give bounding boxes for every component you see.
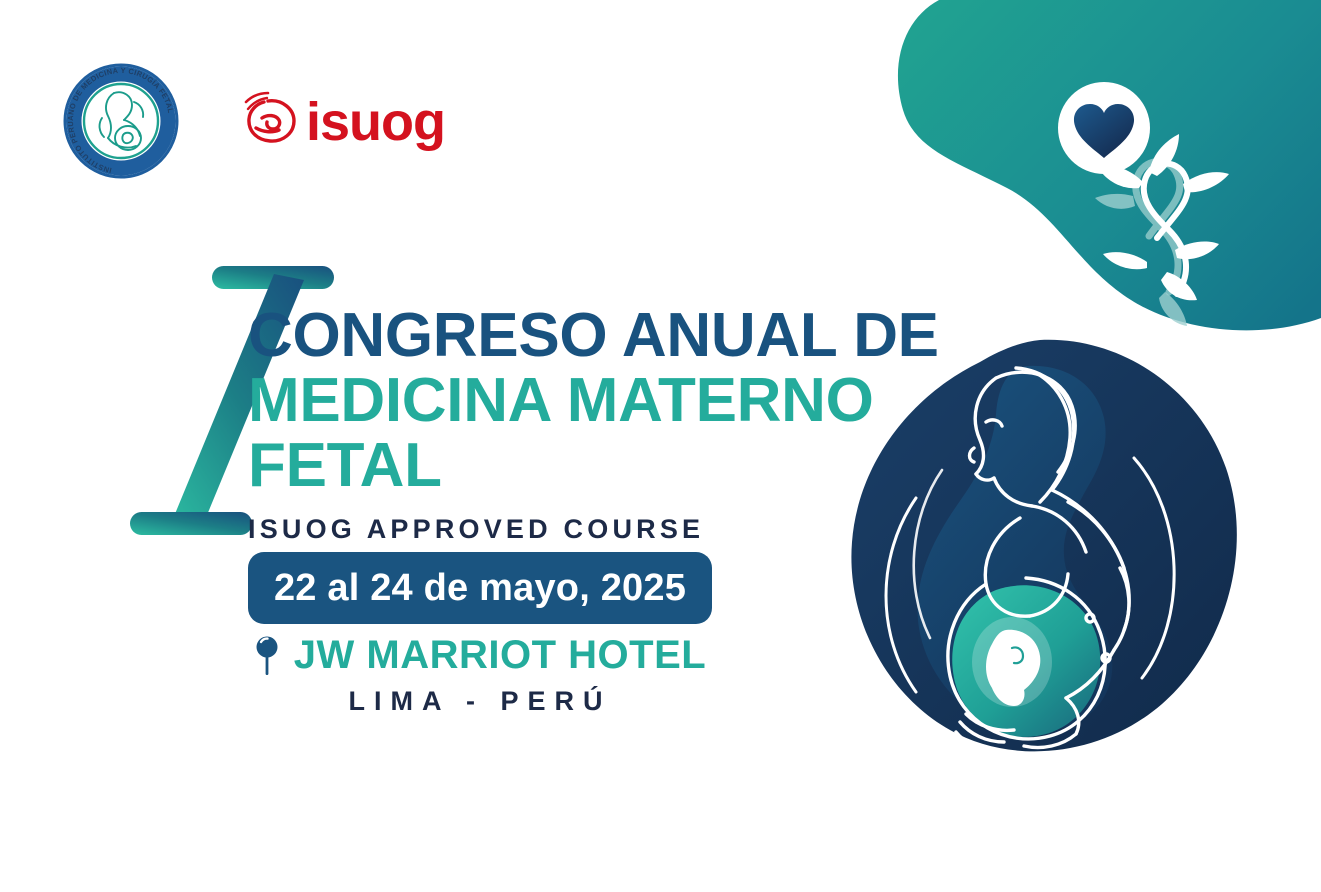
leaf-vine-icon [1095, 134, 1229, 326]
logo-row: INSTITUTO PERUANO DE MEDICINA Y CIRUGÍA … [62, 62, 446, 180]
event-date-badge: 22 al 24 de mayo, 2025 [248, 552, 712, 624]
title-lines: CONGRESO ANUAL DE MEDICINA MATERNO FETAL… [248, 306, 939, 545]
venue-row: JW MARRIOT HOTEL [248, 633, 712, 678]
belly-shape [952, 585, 1100, 737]
venue-name: JW MARRIOT HOTEL [294, 633, 706, 678]
body-silhouette [918, 366, 1113, 732]
heart-badge-circle [1058, 82, 1150, 174]
instituto-peruano-logo: INSTITUTO PERUANO DE MEDICINA Y CIRUGÍA … [62, 62, 180, 180]
course-subtitle: ISUOG APPROVED COURSE [248, 514, 939, 545]
title-line-2: MEDICINA MATERNO [248, 371, 939, 432]
location-pin-icon [254, 636, 280, 676]
title-line-1: CONGRESO ANUAL DE [248, 306, 939, 367]
venue-city: LIMA - PERÚ [248, 686, 712, 717]
svg-text:isuog: isuog [306, 92, 445, 152]
event-date-text: 22 al 24 de mayo, 2025 [274, 567, 686, 610]
fetus-icon [986, 630, 1040, 706]
title-line-3: FETAL [248, 436, 939, 497]
poster-canvas: INSTITUTO PERUANO DE MEDICINA Y CIRUGÍA … [0, 0, 1321, 892]
amniotic-halo [972, 617, 1052, 707]
blob-shape [898, 0, 1321, 330]
isuog-logo: isuog [238, 88, 446, 154]
heart-icon [1074, 104, 1134, 158]
top-right-decorative-blob [881, 0, 1321, 340]
